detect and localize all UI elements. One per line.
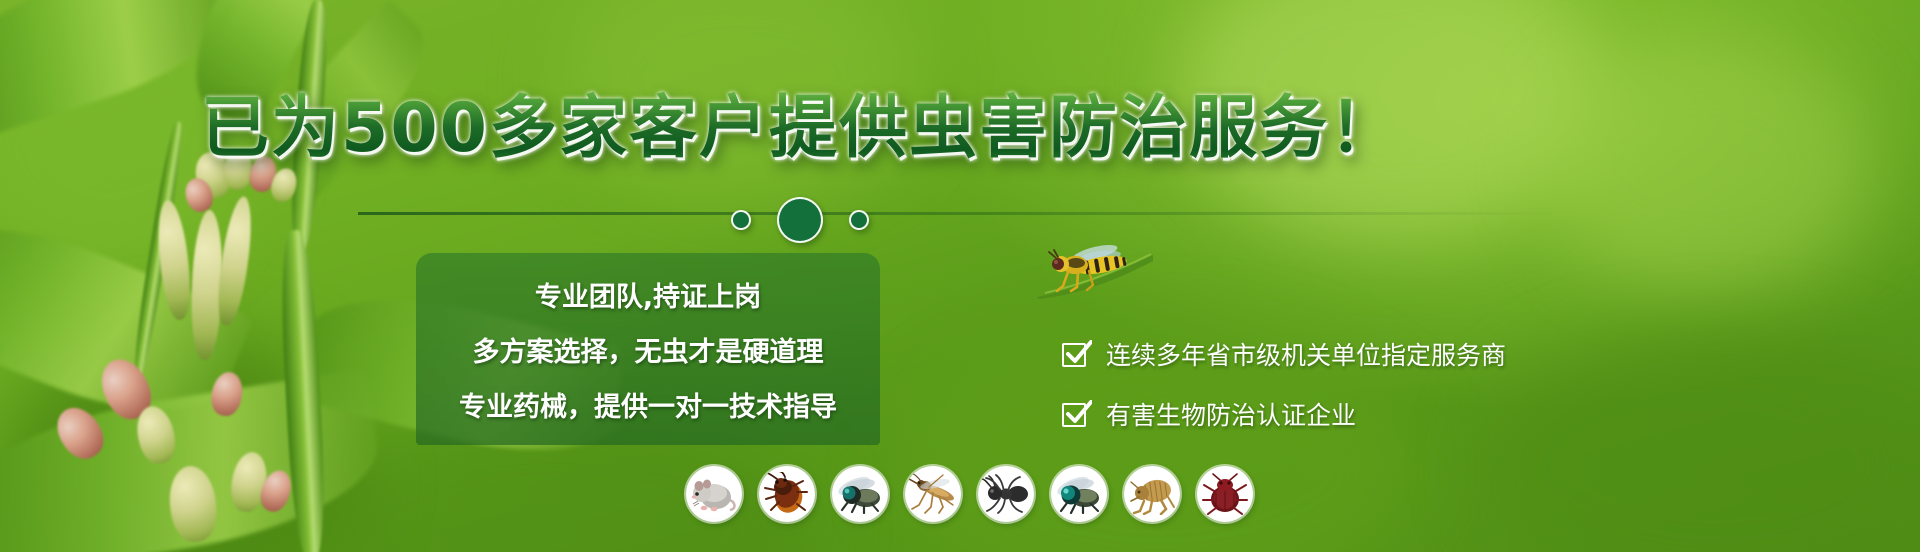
dot-large-center-icon	[777, 197, 823, 243]
certification-list: 连续多年省市级机关单位指定服务商 有害生物防治认证企业	[1062, 332, 1506, 452]
flea-icon[interactable]	[1124, 466, 1180, 522]
bokeh-blob	[1480, 330, 1920, 552]
promo-banner: 已为500多家客户提供虫害防治服务！ 已为500多家客户提供虫害防治服务！ 专业…	[0, 0, 1920, 552]
selling-point-line-3: 专业药械，提供一对一技术指导	[459, 385, 837, 424]
selling-point-line-2: 多方案选择，无虫才是硬道理	[473, 330, 824, 369]
decor-dot-group	[0, 197, 1600, 243]
list-item: 有害生物防治认证企业	[1062, 392, 1506, 436]
rodent-icon[interactable]	[686, 466, 742, 522]
housefly-icon[interactable]	[832, 466, 888, 522]
blowfly-icon[interactable]	[1051, 466, 1107, 522]
certification-label: 有害生物防治认证企业	[1106, 396, 1356, 432]
page-title: 已为500多家客户提供虫害防治服务！	[0, 72, 1600, 171]
mosquito-icon[interactable]	[905, 466, 961, 522]
bedbug-icon[interactable]	[1197, 466, 1253, 522]
certification-label: 连续多年省市级机关单位指定服务商	[1106, 336, 1506, 372]
dot-small-left-icon	[731, 210, 751, 230]
selling-point-line-1: 专业团队,持证上岗	[535, 275, 761, 314]
cockroach-icon[interactable]	[759, 466, 815, 522]
selling-points-text: 专业团队,持证上岗 多方案选择，无虫才是硬道理 专业药械，提供一对一技术指导	[416, 253, 880, 445]
dot-small-right-icon	[849, 210, 869, 230]
checkbox-check-icon	[1062, 400, 1090, 428]
hoverfly-icon	[1035, 243, 1155, 299]
list-item: 连续多年省市级机关单位指定服务商	[1062, 332, 1506, 376]
pest-icon-strip	[686, 466, 1253, 522]
ant-icon[interactable]	[978, 466, 1034, 522]
checkbox-check-icon	[1062, 340, 1090, 368]
